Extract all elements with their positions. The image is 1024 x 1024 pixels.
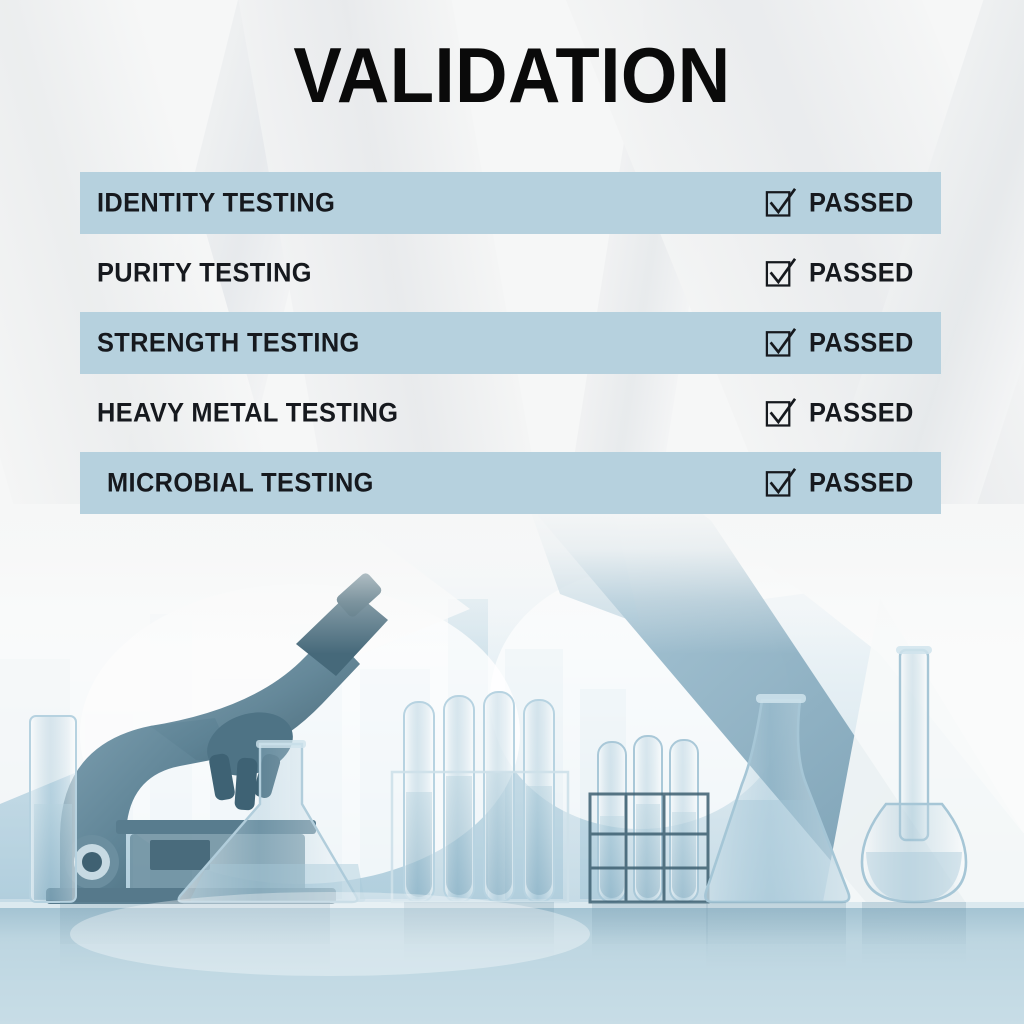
test-tube-left xyxy=(30,716,76,902)
checklist-row-heavy-metal-testing[interactable]: HEAVY METAL TESTING PASSED xyxy=(0,378,1024,448)
checklist-row-label: IDENTITY TESTING xyxy=(97,188,335,219)
checklist-row-label: PURITY TESTING xyxy=(97,258,312,289)
checklist-row-status: PASSED xyxy=(765,328,920,359)
checklist-row-label: HEAVY METAL TESTING xyxy=(97,398,398,429)
checklist-row-status: PASSED xyxy=(765,188,920,219)
checklist-row-status: PASSED xyxy=(765,258,920,289)
status-badge: PASSED xyxy=(809,188,914,219)
checklist-row-label: STRENGTH TESTING xyxy=(97,328,360,359)
checkbox-checked-icon[interactable] xyxy=(765,398,796,429)
checkbox-checked-icon[interactable] xyxy=(765,468,796,499)
checklist-row-status: PASSED xyxy=(765,468,920,499)
checklist-row-microbial-testing[interactable]: MICROBIAL TESTING PASSED xyxy=(0,448,1024,518)
checklist-row-status: PASSED xyxy=(765,398,920,429)
validation-checklist: IDENTITY TESTING PASSED PURITY TESTING P… xyxy=(0,168,1024,518)
status-badge: PASSED xyxy=(809,258,914,289)
checkbox-checked-icon[interactable] xyxy=(765,258,796,289)
checklist-row-label: MICROBIAL TESTING xyxy=(107,468,374,499)
validation-poster: VALIDATION IDENTITY TESTING PASSED PURIT… xyxy=(0,0,1024,1024)
status-badge: PASSED xyxy=(809,398,914,429)
checklist-row-purity-testing[interactable]: PURITY TESTING PASSED xyxy=(0,238,1024,308)
checklist-row-strength-testing[interactable]: STRENGTH TESTING PASSED xyxy=(0,308,1024,378)
checkbox-checked-icon[interactable] xyxy=(765,188,796,219)
status-badge: PASSED xyxy=(809,468,914,499)
checkbox-checked-icon[interactable] xyxy=(765,328,796,359)
lab-scene-illustration xyxy=(0,504,1024,1024)
page-title: VALIDATION xyxy=(36,36,988,114)
laboratory-equipment-photo xyxy=(0,504,1024,1024)
status-badge: PASSED xyxy=(809,328,914,359)
checklist-row-identity-testing[interactable]: IDENTITY TESTING PASSED xyxy=(0,168,1024,238)
test-tube-rack xyxy=(590,736,708,902)
